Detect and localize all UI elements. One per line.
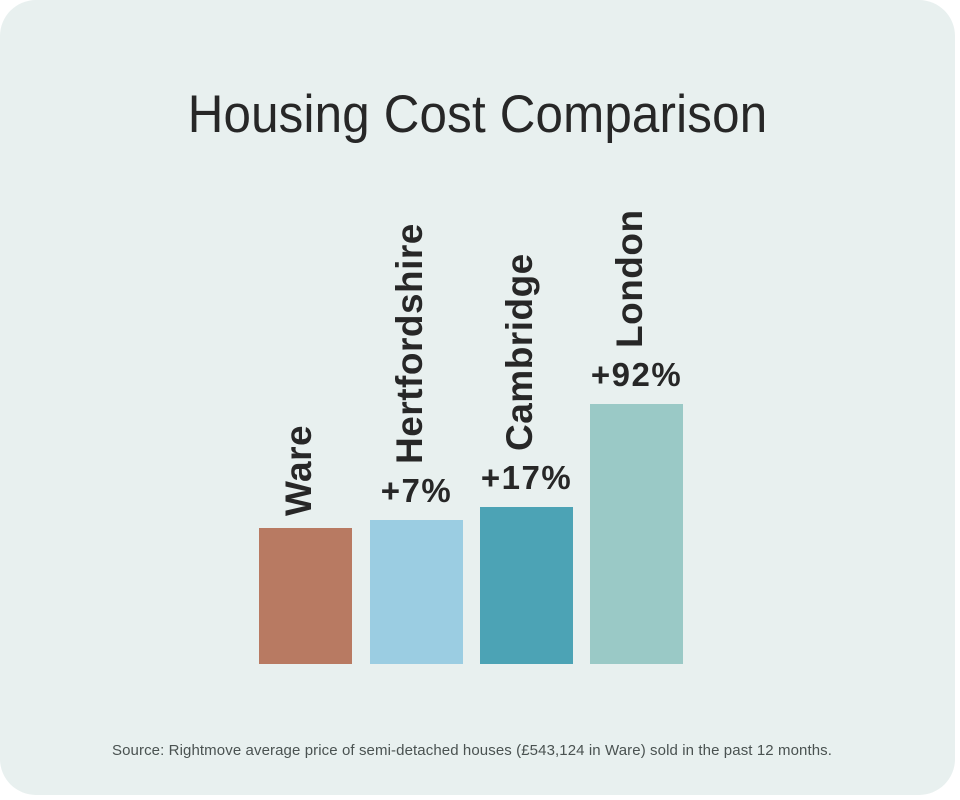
bar-ware[interactable] bbox=[259, 528, 352, 664]
bar-value-label-cambridge: +17% bbox=[481, 459, 572, 497]
bar-label-cambridge: Cambridge bbox=[499, 253, 541, 451]
source-note: Source: Rightmove average price of semi-… bbox=[112, 742, 832, 759]
bar-label-ware: Ware bbox=[278, 425, 320, 516]
bar-value-label-hertfordshire: +7% bbox=[381, 472, 452, 510]
bar-chart-plot-area: Ware Hertfordshire +7% Cambridge +17% Lo… bbox=[0, 0, 955, 795]
chart-card: Housing Cost Comparison Ware Hertfordshi… bbox=[0, 0, 955, 795]
bar-label-london: London bbox=[609, 209, 651, 348]
bar-value-label-london: +92% bbox=[591, 356, 682, 394]
bar-london[interactable] bbox=[590, 404, 683, 664]
bar-label-hertfordshire: Hertfordshire bbox=[389, 223, 431, 464]
bar-cambridge[interactable] bbox=[480, 507, 573, 664]
bar-hertfordshire[interactable] bbox=[370, 520, 463, 664]
